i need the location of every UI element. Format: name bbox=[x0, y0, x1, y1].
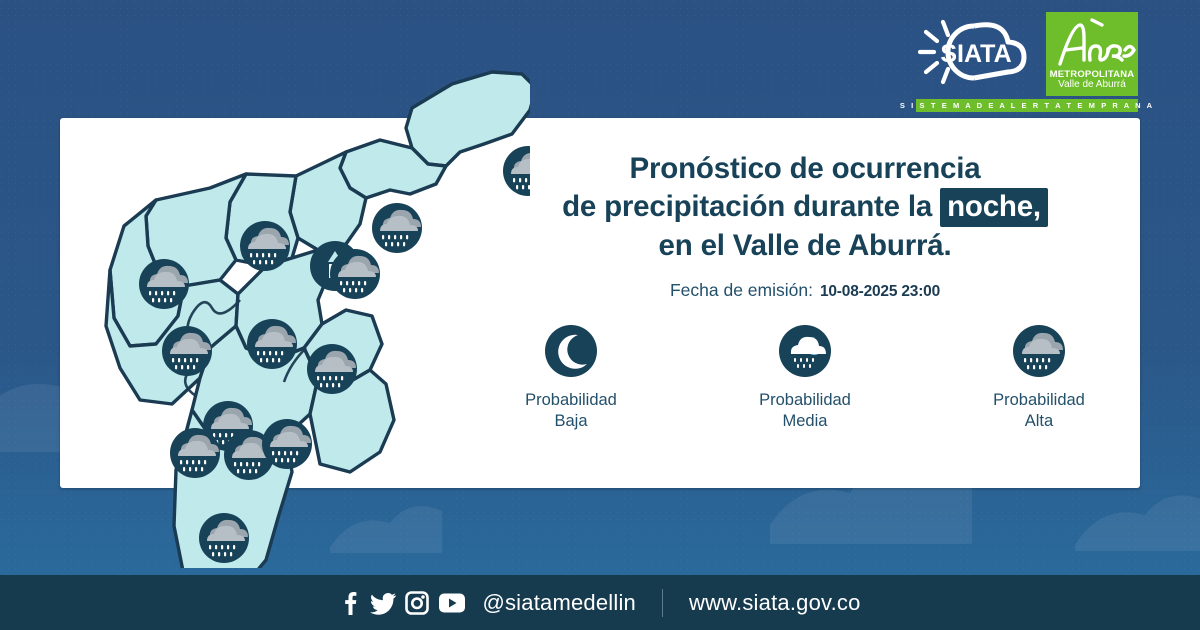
siata-wordmark: SIATA bbox=[940, 40, 1011, 68]
footer-bar: @siatamedellin www.siata.gov.co bbox=[0, 575, 1200, 630]
headline-line-2: de precipitación durante la noche, bbox=[470, 188, 1140, 226]
tagline-bar: S I S T E M A D E A L E R T A T E M P R … bbox=[916, 99, 1138, 112]
map-marker-san-pedro[interactable] bbox=[240, 221, 290, 271]
issue-date: Fecha de emisión: 10-08-2025 23:00 bbox=[470, 280, 1140, 301]
cloud-rain-moon-icon bbox=[779, 325, 831, 377]
legend-label-media: Probabilidad Media bbox=[759, 390, 851, 432]
youtube-icon[interactable] bbox=[438, 592, 466, 614]
map-marker-copacabana[interactable] bbox=[330, 249, 380, 299]
probability-legend: Probabilidad Baja Proba bbox=[470, 325, 1140, 432]
area-line2: Valle de Aburrá bbox=[1046, 80, 1138, 91]
logo-area: SIATA METROPOLITANA Valle de Aburrá S I bbox=[912, 12, 1138, 112]
tagline-text: S I S T E M A D E A L E R T A T E M P R … bbox=[900, 101, 1154, 110]
map-marker-medellin[interactable] bbox=[247, 319, 297, 369]
social-icons bbox=[339, 591, 466, 615]
facebook-icon[interactable] bbox=[339, 591, 361, 615]
valle-de-aburra-map[interactable]: N bbox=[60, 48, 530, 568]
legend-alta-line2: Alta bbox=[993, 411, 1085, 432]
legend-item-alta[interactable]: Probabilidad Alta bbox=[964, 325, 1114, 432]
headline-line-3: en el Valle de Aburrá. bbox=[470, 227, 1140, 265]
headline-highlight: noche, bbox=[940, 188, 1048, 227]
headline-line-1: Pronóstico de ocurrencia bbox=[470, 150, 1140, 188]
legend-baja-line1: Probabilidad bbox=[525, 390, 617, 411]
twitter-icon[interactable] bbox=[370, 591, 396, 615]
map-marker-girardota[interactable] bbox=[372, 203, 422, 253]
website-url[interactable]: www.siata.gov.co bbox=[689, 590, 861, 616]
map-marker-caldas[interactable] bbox=[199, 513, 249, 563]
legend-label-alta: Probabilidad Alta bbox=[993, 390, 1085, 432]
cloud-heavy-rain-icon bbox=[1013, 325, 1065, 377]
moon-icon bbox=[545, 325, 597, 377]
map-marker-envigado-sur[interactable] bbox=[262, 419, 312, 469]
sun-cloud-icon: SIATA bbox=[912, 12, 1040, 92]
legend-alta-line1: Probabilidad bbox=[993, 390, 1085, 411]
legend-item-baja[interactable]: Probabilidad Baja bbox=[496, 325, 646, 432]
legend-label-baja: Probabilidad Baja bbox=[525, 390, 617, 432]
instagram-icon[interactable] bbox=[405, 591, 429, 615]
map-marker-medellin-norte[interactable] bbox=[162, 326, 212, 376]
area-script-icon bbox=[1046, 16, 1138, 68]
forecast-content: Pronóstico de ocurrencia de precipitació… bbox=[470, 150, 1140, 470]
siata-logo: SIATA bbox=[912, 12, 1040, 92]
area-line1: METROPOLITANA bbox=[1046, 70, 1138, 80]
map-marker-bello-norte[interactable] bbox=[139, 259, 189, 309]
issue-date-value: 10-08-2025 23:00 bbox=[820, 283, 940, 301]
map-marker-envigado[interactable] bbox=[307, 344, 357, 394]
map-marker-la-estrella[interactable] bbox=[170, 428, 220, 478]
legend-media-line2: Media bbox=[759, 411, 851, 432]
legend-baja-line2: Baja bbox=[525, 411, 617, 432]
headline-line-2-text: de precipitación durante la bbox=[562, 190, 932, 223]
area-metropolitana-logo: METROPOLITANA Valle de Aburrá bbox=[1046, 12, 1138, 96]
footer-divider bbox=[662, 589, 663, 617]
map-regions bbox=[106, 72, 530, 568]
legend-media-line1: Probabilidad bbox=[759, 390, 851, 411]
issue-date-label: Fecha de emisión: bbox=[670, 280, 813, 301]
legend-item-media[interactable]: Probabilidad Media bbox=[730, 325, 880, 432]
social-handle[interactable]: @siatamedellin bbox=[482, 590, 636, 616]
page-title: Pronóstico de ocurrencia de precipitació… bbox=[470, 150, 1140, 265]
